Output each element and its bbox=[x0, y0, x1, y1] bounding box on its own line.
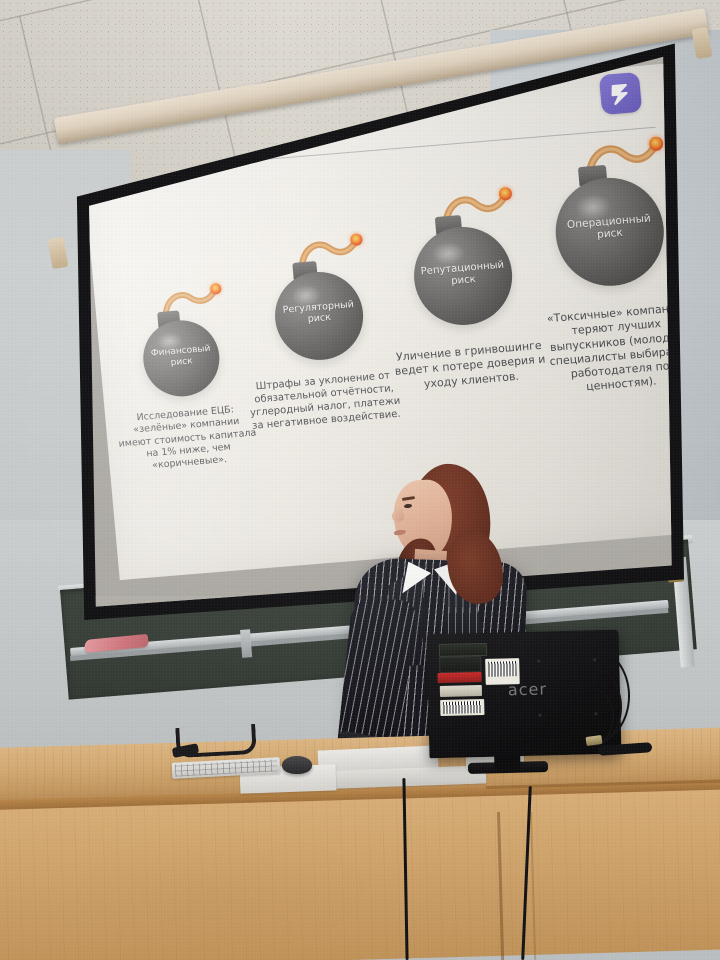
risk-column-regulatory: Регуляторный риск Штрафы за уклонение от… bbox=[234, 231, 402, 433]
bomb-label: Репутационный риск bbox=[413, 259, 513, 291]
bomb-icon: Финансовый риск bbox=[125, 283, 232, 401]
risk-description: Исследование ЕЦБ: «зелёные» компании име… bbox=[115, 403, 260, 476]
desk-front-panel bbox=[0, 789, 720, 960]
red-inventory-sticker bbox=[437, 672, 481, 683]
bomb-icon: Операционный риск bbox=[532, 136, 681, 299]
risk-description: Штрафы за уклонение от обязательной отчё… bbox=[247, 369, 403, 433]
risk-description: «Токсичные» компании теряют лучших выпус… bbox=[532, 300, 684, 399]
bomb-icon: Репутационный риск bbox=[393, 186, 529, 336]
bomb-body: Финансовый риск bbox=[140, 317, 223, 399]
bomb-label: Финансовый риск bbox=[142, 343, 220, 370]
cable-holder bbox=[175, 724, 256, 758]
barcode-sticker bbox=[485, 658, 520, 685]
screen-unlit-band-top bbox=[72, 40, 684, 58]
risk-column-financial: Финансовый риск Исследование ЕЦБ: «зелён… bbox=[104, 281, 260, 475]
barcode-sticker bbox=[440, 699, 484, 716]
mouse[interactable] bbox=[282, 756, 312, 774]
bomb-body: Репутационный риск bbox=[410, 223, 516, 329]
z-mark-logo bbox=[599, 72, 642, 115]
bomb-body: Регуляторный риск bbox=[271, 268, 367, 363]
bomb-body: Операционный риск bbox=[551, 174, 668, 290]
bomb-icon: Регуляторный риск bbox=[254, 233, 377, 368]
asset-sticker bbox=[439, 656, 481, 673]
risk-column-operational: Операционный риск «Токсичные» компании т… bbox=[517, 135, 684, 399]
risk-description: Уличение в гринвошинге ведет к потере до… bbox=[389, 338, 552, 394]
asset-sticker bbox=[439, 643, 487, 657]
asset-sticker bbox=[440, 685, 482, 697]
bomb-label: Регуляторный риск bbox=[274, 298, 364, 328]
bomb-label: Операционный риск bbox=[555, 211, 665, 245]
presentation-photo-scene: Если пренебрегать ESG bbox=[0, 0, 720, 960]
